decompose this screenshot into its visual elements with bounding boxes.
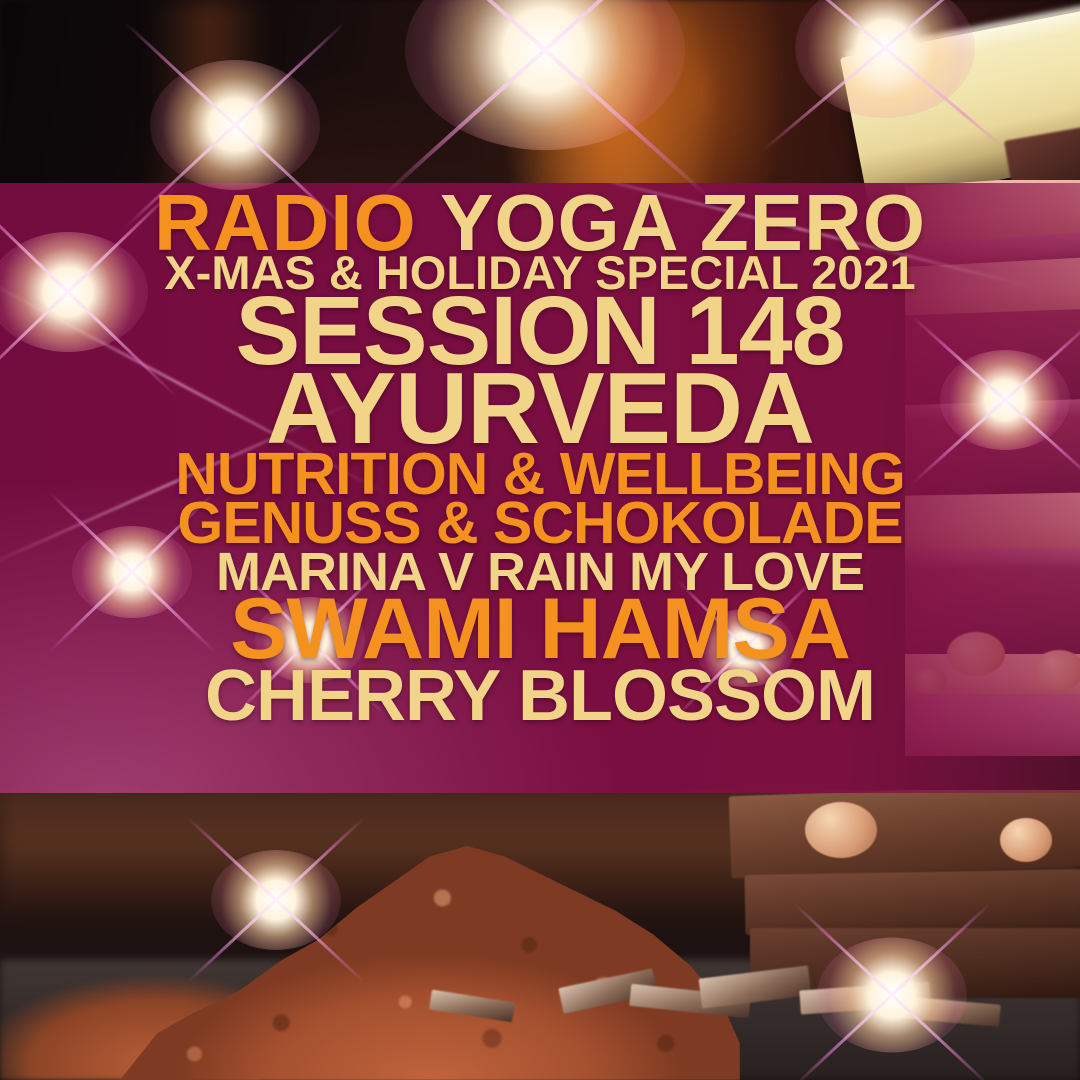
cocoa-powder-photo (0, 790, 1080, 1080)
dark-chocolate-bar-lower (745, 869, 1080, 935)
poster-canvas: RADIO YOGA ZERO X-MAS & HOLIDAY SPECIAL … (0, 0, 1080, 1080)
line-closing-track: CHERRY BLOSSOM (0, 663, 1080, 731)
poster-text-block: RADIO YOGA ZERO X-MAS & HOLIDAY SPECIAL … (0, 183, 1080, 793)
